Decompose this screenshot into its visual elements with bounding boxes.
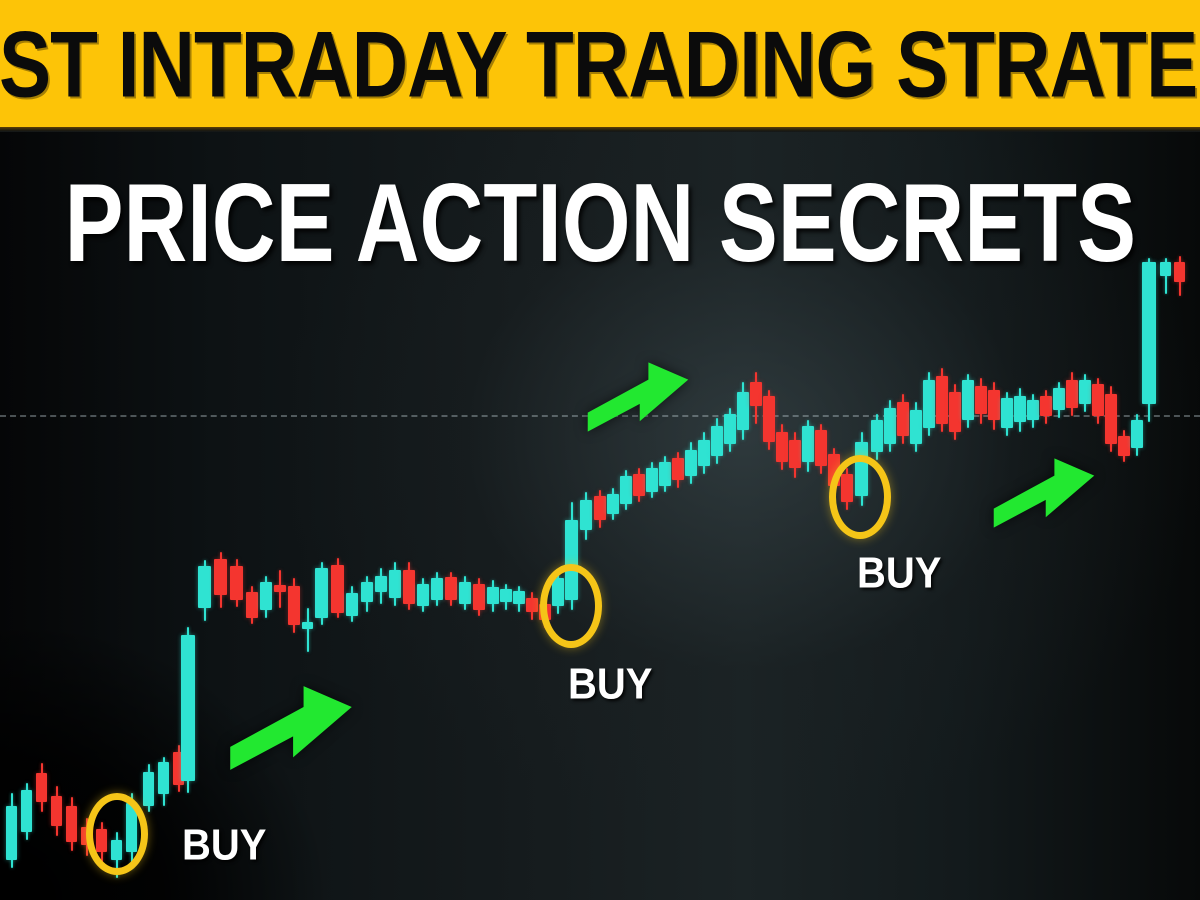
candle	[594, 490, 606, 528]
candle	[698, 432, 710, 474]
candle	[288, 578, 300, 633]
candle	[260, 576, 272, 618]
candle-body	[871, 420, 883, 452]
candle-body	[949, 392, 961, 432]
candle	[526, 592, 538, 620]
buy-signal-circle	[540, 564, 602, 648]
candle	[143, 764, 154, 812]
candle-body	[230, 566, 243, 600]
candle	[1105, 386, 1117, 452]
candle	[936, 368, 948, 432]
candle	[607, 488, 619, 520]
candle-body	[789, 440, 801, 468]
candle	[1014, 388, 1026, 432]
candle	[789, 432, 801, 478]
candle	[6, 793, 17, 868]
candle-body	[1079, 380, 1091, 404]
uptrend-arrow-icon	[992, 452, 1096, 534]
candle-body	[473, 584, 485, 610]
candle-body	[802, 426, 814, 462]
candle	[1092, 378, 1104, 424]
candle	[685, 442, 697, 484]
candle-body	[389, 570, 401, 598]
candle	[403, 562, 415, 610]
candle	[620, 470, 632, 510]
candle-body	[1066, 380, 1078, 408]
candle-body	[288, 586, 300, 625]
candle	[815, 424, 827, 474]
candle-body	[685, 450, 697, 476]
candle-body	[1001, 398, 1013, 428]
candle-body	[646, 468, 658, 492]
candle	[230, 559, 243, 607]
candle-body	[763, 396, 775, 442]
candle-body	[1174, 262, 1185, 282]
candle-body	[459, 582, 471, 604]
candle	[1040, 390, 1052, 424]
candle	[1001, 392, 1013, 436]
candle	[897, 394, 909, 444]
candle	[711, 418, 723, 464]
headline: PRICE ACTION SECRETS	[0, 168, 1200, 264]
candle-body	[672, 458, 684, 480]
candle	[724, 408, 736, 452]
candle-body	[214, 559, 227, 595]
candle	[659, 456, 671, 492]
candle-body	[1118, 436, 1130, 456]
candle-body	[346, 593, 358, 616]
candle-wick	[307, 608, 309, 652]
candle-body	[594, 496, 606, 520]
candle	[198, 560, 211, 621]
candle	[962, 374, 974, 428]
candle-body	[1027, 400, 1039, 420]
candle-body	[246, 592, 258, 618]
candle-body	[445, 577, 457, 600]
candle-body	[724, 414, 736, 444]
candle-body	[737, 392, 749, 430]
candle	[21, 783, 32, 840]
candle-body	[884, 408, 896, 444]
candle-body	[302, 622, 313, 629]
candle-body	[260, 582, 272, 610]
candle	[949, 384, 961, 440]
candle	[315, 562, 328, 625]
candle-body	[66, 806, 77, 842]
buy-label: BUY	[568, 662, 652, 706]
uptrend-arrow-icon	[586, 358, 690, 436]
candle-body	[526, 598, 538, 612]
top-banner: BEST INTRADAY TRADING STRATEGY	[0, 0, 1200, 127]
candle	[473, 578, 485, 616]
candle-body	[1040, 396, 1052, 416]
candle-body	[633, 474, 645, 496]
candle	[633, 468, 645, 502]
candle	[331, 558, 344, 618]
candle-body	[143, 772, 154, 806]
candle-body	[1014, 396, 1026, 422]
candle	[445, 572, 457, 606]
candle	[246, 586, 258, 624]
candle	[431, 572, 443, 606]
candle-body	[1160, 262, 1171, 276]
candle-body	[620, 476, 632, 504]
candle-body	[1053, 388, 1065, 410]
candle	[763, 390, 775, 450]
candle	[580, 492, 592, 540]
uptrend-arrow-icon	[228, 684, 354, 772]
candle-body	[331, 565, 344, 613]
price-action-thumbnail: BUYBUYBUY BEST INTRADAY TRADING STRATEGY…	[0, 0, 1200, 900]
candle-body	[1092, 384, 1104, 416]
candle-body	[51, 796, 62, 826]
candle	[66, 797, 77, 851]
candle-body	[962, 380, 974, 420]
candle-body	[975, 386, 987, 414]
candle	[737, 382, 749, 440]
candle-body	[776, 432, 788, 462]
candle	[513, 586, 525, 612]
buy-signal-circle	[829, 455, 891, 539]
candle	[158, 757, 169, 806]
candle	[1142, 258, 1156, 422]
candle-body	[36, 773, 47, 802]
candle-body	[580, 500, 592, 530]
candle-body	[815, 430, 827, 466]
candle	[750, 372, 762, 424]
banner-underline	[0, 127, 1200, 132]
candle-body	[936, 376, 948, 424]
candle-body	[500, 589, 512, 602]
candle-body	[158, 762, 169, 794]
headline-title: PRICE ACTION SECRETS	[64, 168, 1135, 279]
candle	[1118, 430, 1130, 462]
candle-body	[375, 576, 387, 592]
candle-body	[1142, 262, 1156, 404]
candle	[672, 452, 684, 488]
candle-body	[361, 582, 373, 602]
candle-body	[315, 568, 328, 618]
candle-body	[1131, 420, 1143, 448]
candle	[417, 578, 429, 612]
candle	[459, 576, 471, 610]
candle	[389, 562, 401, 606]
candle	[1053, 382, 1065, 418]
candle	[923, 372, 935, 436]
candle-body	[431, 578, 443, 600]
candle-body	[607, 494, 619, 514]
candle	[51, 786, 62, 836]
candle-body	[1105, 394, 1117, 444]
candle	[988, 382, 1000, 430]
candle-body	[6, 806, 17, 860]
candle-body	[897, 402, 909, 436]
candle	[776, 424, 788, 470]
candle	[802, 420, 814, 472]
candle	[1027, 394, 1039, 428]
candle	[274, 570, 286, 608]
candle-body	[923, 380, 935, 428]
candle	[36, 763, 47, 812]
candle-body	[181, 635, 195, 781]
candle	[181, 627, 195, 793]
candle	[1066, 372, 1078, 416]
candle-body	[487, 587, 499, 604]
candle-body	[910, 410, 922, 444]
candle	[361, 576, 373, 612]
candle	[910, 402, 922, 452]
candle-body	[417, 584, 429, 606]
candle-body	[21, 790, 32, 832]
candle	[346, 586, 358, 622]
candle	[487, 580, 499, 612]
candle-body	[988, 390, 1000, 420]
candle-body	[659, 462, 671, 486]
candle	[302, 608, 313, 652]
candle-body	[698, 440, 710, 466]
buy-label: BUY	[182, 823, 266, 867]
buy-label: BUY	[857, 551, 941, 595]
candle	[500, 584, 512, 610]
candle	[1079, 374, 1091, 412]
candle-body	[198, 566, 211, 608]
candle-body	[750, 382, 762, 406]
candle	[646, 462, 658, 498]
candle	[975, 378, 987, 424]
candle-body	[513, 591, 525, 604]
banner-title: BEST INTRADAY TRADING STRATEGY	[0, 16, 1200, 110]
candle-body	[403, 570, 415, 604]
candle	[871, 414, 883, 460]
candle	[375, 568, 387, 604]
candle-body	[274, 585, 286, 592]
candle	[214, 552, 227, 608]
candle	[884, 400, 896, 452]
buy-signal-circle	[86, 793, 148, 875]
candle-body	[711, 426, 723, 456]
